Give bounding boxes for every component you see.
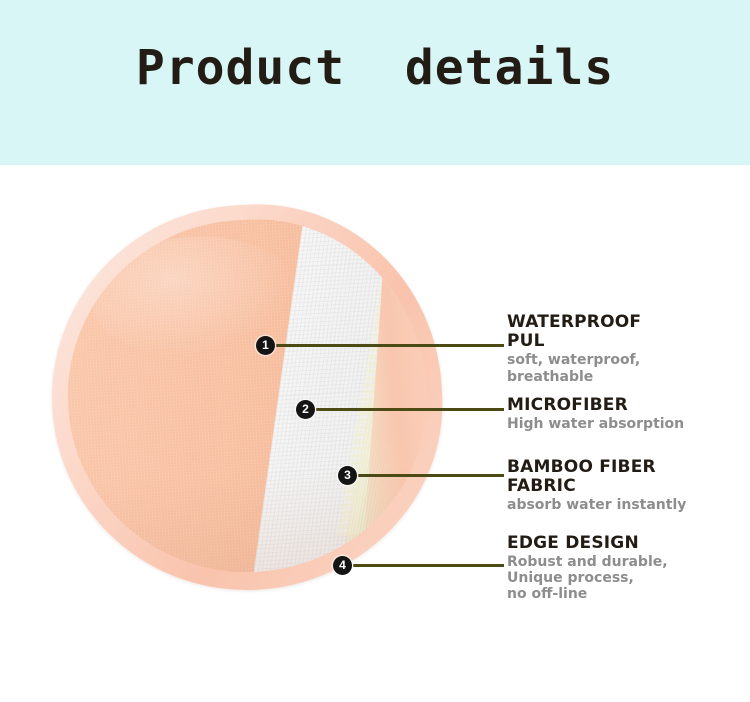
callout-subtitle-2: High water absorption (507, 416, 747, 433)
callout-title-1: WATERPROOF PUL (507, 313, 747, 351)
callout-label-1: WATERPROOF PUL soft, waterproof, breatha… (507, 313, 747, 386)
callout-label-3: BAMBOO FIBER FABRIC absorb water instant… (507, 458, 747, 514)
product-details-infographic: Product details 1 WATERPROOF PUL soft, w… (0, 0, 750, 702)
callout-title-4: EDGE DESIGN (507, 534, 747, 553)
header-band: Product details (0, 0, 750, 165)
leader-line-3 (358, 474, 504, 477)
leader-line-4 (353, 564, 504, 567)
callout-subtitle-3: absorb water instantly (507, 497, 747, 514)
callout-marker-2[interactable]: 2 (296, 400, 315, 419)
leader-line-1 (276, 344, 504, 347)
callout-marker-4[interactable]: 4 (333, 556, 352, 575)
nursing-pad-serged-edge (42, 195, 452, 600)
callout-subtitle-1: soft, waterproof, breathable (507, 352, 747, 386)
page-title: Product details (0, 40, 750, 96)
callout-title-2: MICROFIBER (507, 396, 747, 415)
leader-line-2 (316, 408, 504, 411)
callout-label-4: EDGE DESIGN Robust and durable, Unique p… (507, 534, 747, 602)
callout-marker-3[interactable]: 3 (338, 466, 357, 485)
product-image (52, 205, 442, 590)
callout-title-3: BAMBOO FIBER FABRIC (507, 458, 747, 496)
callout-marker-1[interactable]: 1 (256, 336, 275, 355)
callout-subtitle-4: Robust and durable, Unique process, no o… (507, 554, 747, 602)
callout-label-2: MICROFIBER High water absorption (507, 396, 747, 433)
